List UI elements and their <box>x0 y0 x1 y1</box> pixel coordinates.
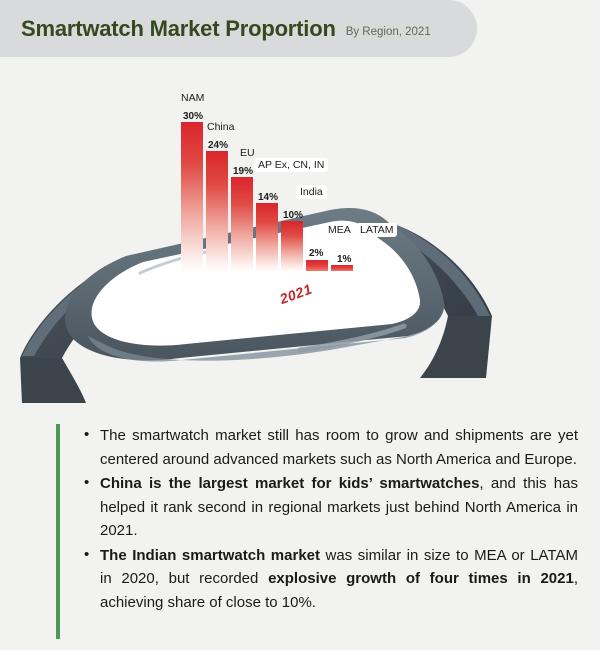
bullet-text-2: The Indian smartwatch market was similar… <box>100 547 578 611</box>
bar-value-mea: 2% <box>309 248 323 259</box>
bullet-text-1: China is the largest market for kids’ sm… <box>100 475 578 539</box>
bar-mea <box>306 260 328 271</box>
bar-value-china: 24% <box>208 140 228 151</box>
page-subtitle: By Region, 2021 <box>346 20 431 38</box>
chart-illustration-stage: NAM 30% China 24% EU 19% AP Ex, CN, IN 1… <box>0 58 600 413</box>
bullet-text-0: The smartwatch market still has room to … <box>100 427 578 468</box>
page-title: Smartwatch Market Proportion <box>21 16 336 42</box>
bar-label-eu: EU <box>240 146 255 160</box>
bar-china <box>206 151 228 272</box>
bar-label-latam: LATAM <box>356 223 397 237</box>
bar-ap-ex-cn-in <box>256 203 278 272</box>
year-stamp: 2021 <box>278 281 315 307</box>
bar-value-nam: 30% <box>183 111 203 122</box>
bar-value-eu: 19% <box>233 166 253 177</box>
header-banner: Smartwatch Market Proportion By Region, … <box>0 0 477 57</box>
bar-value-ap-ex-cn-in: 14% <box>258 192 278 203</box>
bar-latam <box>331 265 353 271</box>
bar-value-latam: 1% <box>337 254 351 265</box>
list-item: China is the largest market for kids’ sm… <box>100 472 578 543</box>
insights-panel: The smartwatch market still has room to … <box>56 424 578 639</box>
bar-eu <box>231 177 253 272</box>
bar-value-india: 10% <box>283 210 303 221</box>
insights-list: The smartwatch market still has room to … <box>82 424 578 614</box>
bar-chart: NAM 30% China 24% EU 19% AP Ex, CN, IN 1… <box>0 58 600 413</box>
bar-nam <box>181 122 203 272</box>
bar-label-nam: NAM <box>181 91 204 105</box>
bar-label-india: India <box>296 185 327 199</box>
bar-label-ap-ex-cn-in: AP Ex, CN, IN <box>254 158 328 172</box>
bar-india <box>281 221 303 272</box>
list-item: The Indian smartwatch market was similar… <box>100 544 578 615</box>
list-item: The smartwatch market still has room to … <box>100 424 578 471</box>
bar-label-mea: MEA <box>324 223 355 237</box>
bar-label-china: China <box>207 120 234 134</box>
